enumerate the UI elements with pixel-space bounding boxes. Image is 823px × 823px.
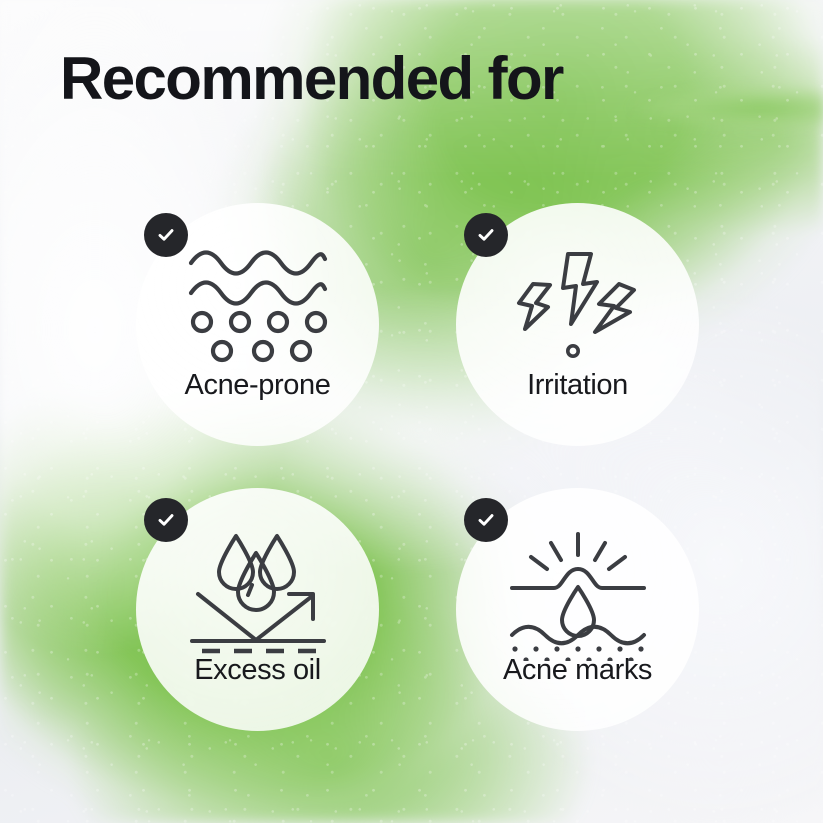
recommended-for-poster: Recommended for bbox=[0, 0, 823, 823]
icon-wavy-skin-pores bbox=[136, 246, 379, 366]
check-badge-acne-prone bbox=[144, 213, 188, 257]
feature-label-irritation: Irritation bbox=[456, 369, 699, 402]
feature-label-excess-oil: Excess oil bbox=[136, 654, 379, 687]
icon-skin-bump-droplet bbox=[456, 531, 699, 661]
icon-lightning-bolts bbox=[456, 246, 699, 366]
feature-label-acne-marks: Acne marks bbox=[456, 654, 699, 687]
check-icon bbox=[155, 509, 177, 531]
check-badge-excess-oil bbox=[144, 498, 188, 542]
check-icon bbox=[155, 224, 177, 246]
icon-oil-droplets-deflect bbox=[136, 531, 379, 659]
feature-card-acne-prone[interactable]: Acne-prone bbox=[136, 203, 379, 446]
check-icon bbox=[475, 224, 497, 246]
feature-label-acne-prone: Acne-prone bbox=[136, 369, 379, 402]
feature-card-excess-oil[interactable]: Excess oil bbox=[136, 488, 379, 731]
check-icon bbox=[475, 509, 497, 531]
feature-grid: Acne-prone bbox=[0, 0, 823, 823]
feature-card-irritation[interactable]: Irritation bbox=[456, 203, 699, 446]
check-badge-irritation bbox=[464, 213, 508, 257]
check-badge-acne-marks bbox=[464, 498, 508, 542]
feature-card-acne-marks[interactable]: Acne marks bbox=[456, 488, 699, 731]
